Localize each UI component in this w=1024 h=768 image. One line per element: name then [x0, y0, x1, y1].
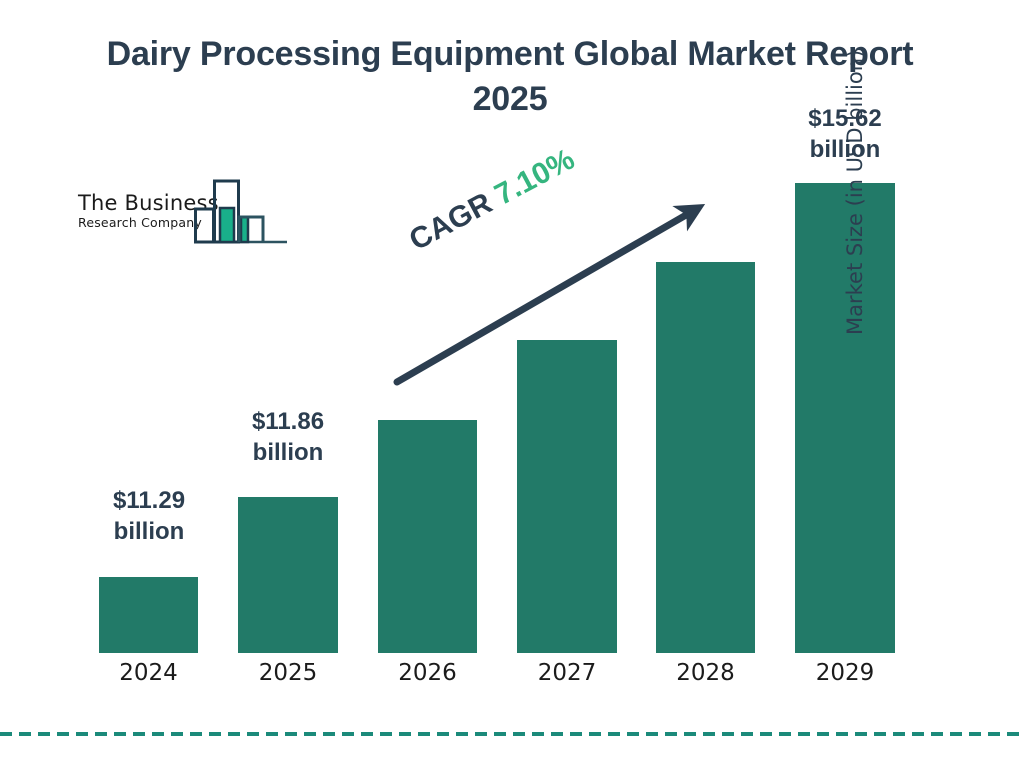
bar-2024 — [99, 577, 198, 653]
cagr-value: 7.10% — [489, 143, 580, 212]
x-tick-2029: 2029 — [795, 660, 895, 686]
x-tick-2025: 2025 — [238, 660, 338, 686]
bar-value-unit-2025: billion — [253, 439, 324, 466]
footer-divider — [0, 732, 1024, 736]
x-tick-2026: 2026 — [378, 660, 477, 686]
chart-canvas: Dairy Processing Equipment Global Market… — [0, 0, 1024, 768]
plot-area: $11.29 billion $11.86 billion $15.62 bil… — [0, 0, 1024, 768]
x-tick-2027: 2027 — [517, 660, 617, 686]
y-axis-title: Market Size (in USD billion) — [843, 15, 867, 335]
bar-value-label-2025: $11.86 billion — [213, 406, 363, 468]
bar-2027 — [517, 340, 617, 653]
bar-value-amount-2024: $11.29 — [113, 487, 185, 514]
bar-2025 — [238, 497, 338, 653]
cagr-annotation: CAGR 7.10% — [404, 143, 580, 258]
x-tick-2024: 2024 — [99, 660, 198, 686]
bar-2028 — [656, 262, 755, 653]
x-tick-2028: 2028 — [656, 660, 755, 686]
cagr-label: CAGR — [404, 187, 497, 258]
bar-2026 — [378, 420, 477, 653]
bar-value-label-2024: $11.29 billion — [74, 485, 224, 547]
bar-value-amount-2025: $11.86 — [252, 408, 324, 435]
bar-value-unit-2024: billion — [114, 518, 185, 545]
